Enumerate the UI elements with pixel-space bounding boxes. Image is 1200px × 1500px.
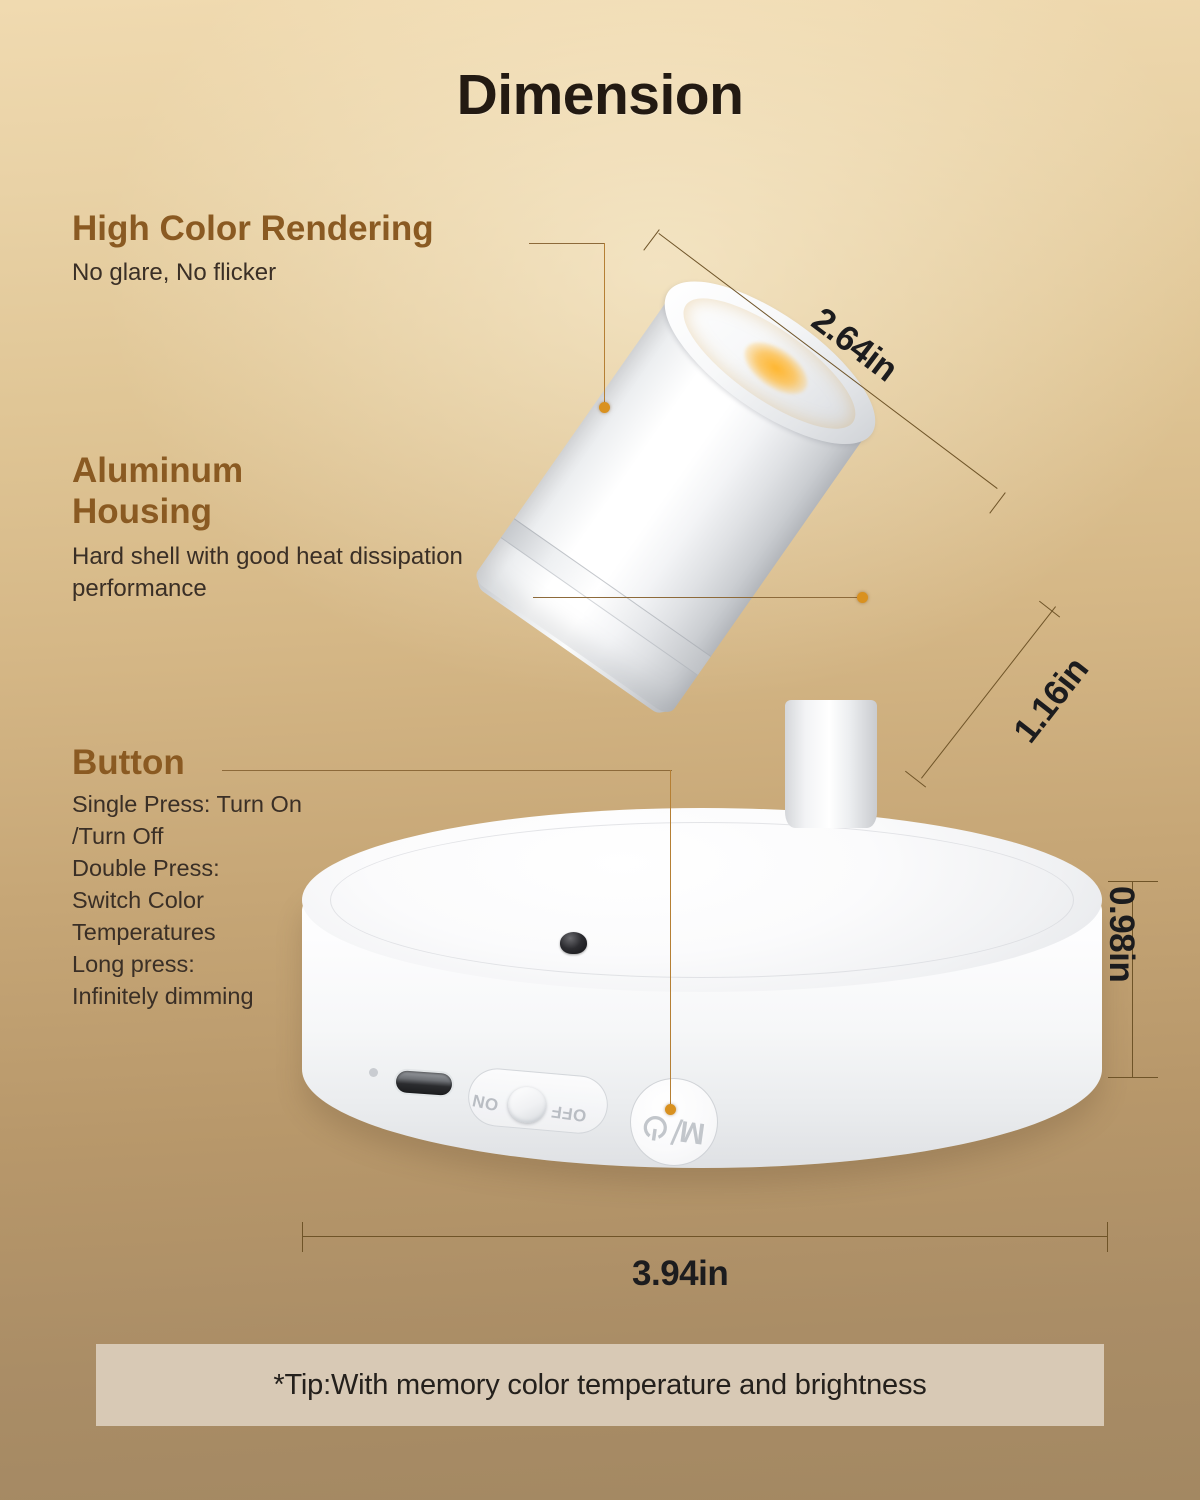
dimension-cap-base-height-bottom (1108, 1077, 1158, 1078)
leader-line-color-rendering (529, 243, 605, 244)
leader-dot-button (665, 1104, 676, 1115)
dimension-cap-base-diameter-right (1107, 1222, 1108, 1252)
leader-line-housing (533, 597, 863, 598)
feature-button: Button Single Press: Turn On /Turn Off D… (72, 742, 302, 1013)
feature-body: No glare, No flicker (72, 257, 434, 289)
dimension-cap-base-diameter-left (302, 1222, 303, 1252)
power-icon: ⏻ (641, 1108, 669, 1145)
led-indicator (369, 1068, 378, 1077)
lamp-neck (785, 700, 877, 828)
dimension-cap-base-height-top (1108, 881, 1158, 882)
lamp-base-ridge (330, 822, 1074, 978)
dimension-infographic: Dimension ON OFF M / ⏻ (0, 0, 1200, 1500)
feature-heading: High Color Rendering (72, 208, 434, 249)
leader-dot-color-rendering (599, 402, 610, 413)
leader-line-button (222, 770, 672, 771)
leader-dot-housing (857, 592, 868, 603)
dimension-line-base-diameter (302, 1236, 1108, 1237)
feature-heading: Aluminum Housing (72, 450, 463, 533)
feature-aluminum-housing: Aluminum Housing Hard shell with good he… (72, 450, 463, 604)
tip-text: *Tip:With memory color temperature and b… (273, 1369, 926, 1402)
tip-banner: *Tip:With memory color temperature and b… (96, 1344, 1104, 1426)
feature-high-color-rendering: High Color Rendering No glare, No flicke… (72, 208, 434, 289)
dimension-label-base-diameter: 3.94in (632, 1254, 728, 1294)
feature-body: Single Press: Turn On /Turn Off Double P… (72, 789, 302, 1013)
leader-line-color-rendering-vertical (604, 243, 605, 408)
feature-body: Hard shell with good heat dissipation pe… (72, 541, 463, 605)
sensor-dot (560, 932, 587, 954)
feature-heading: Button (72, 742, 302, 783)
usb-c-port (395, 1070, 452, 1096)
mode-power-glyph: M / ⏻ (632, 1083, 719, 1163)
dimension-label-base-height: 0.98in (1101, 886, 1141, 982)
leader-line-button-vertical (670, 770, 671, 1110)
